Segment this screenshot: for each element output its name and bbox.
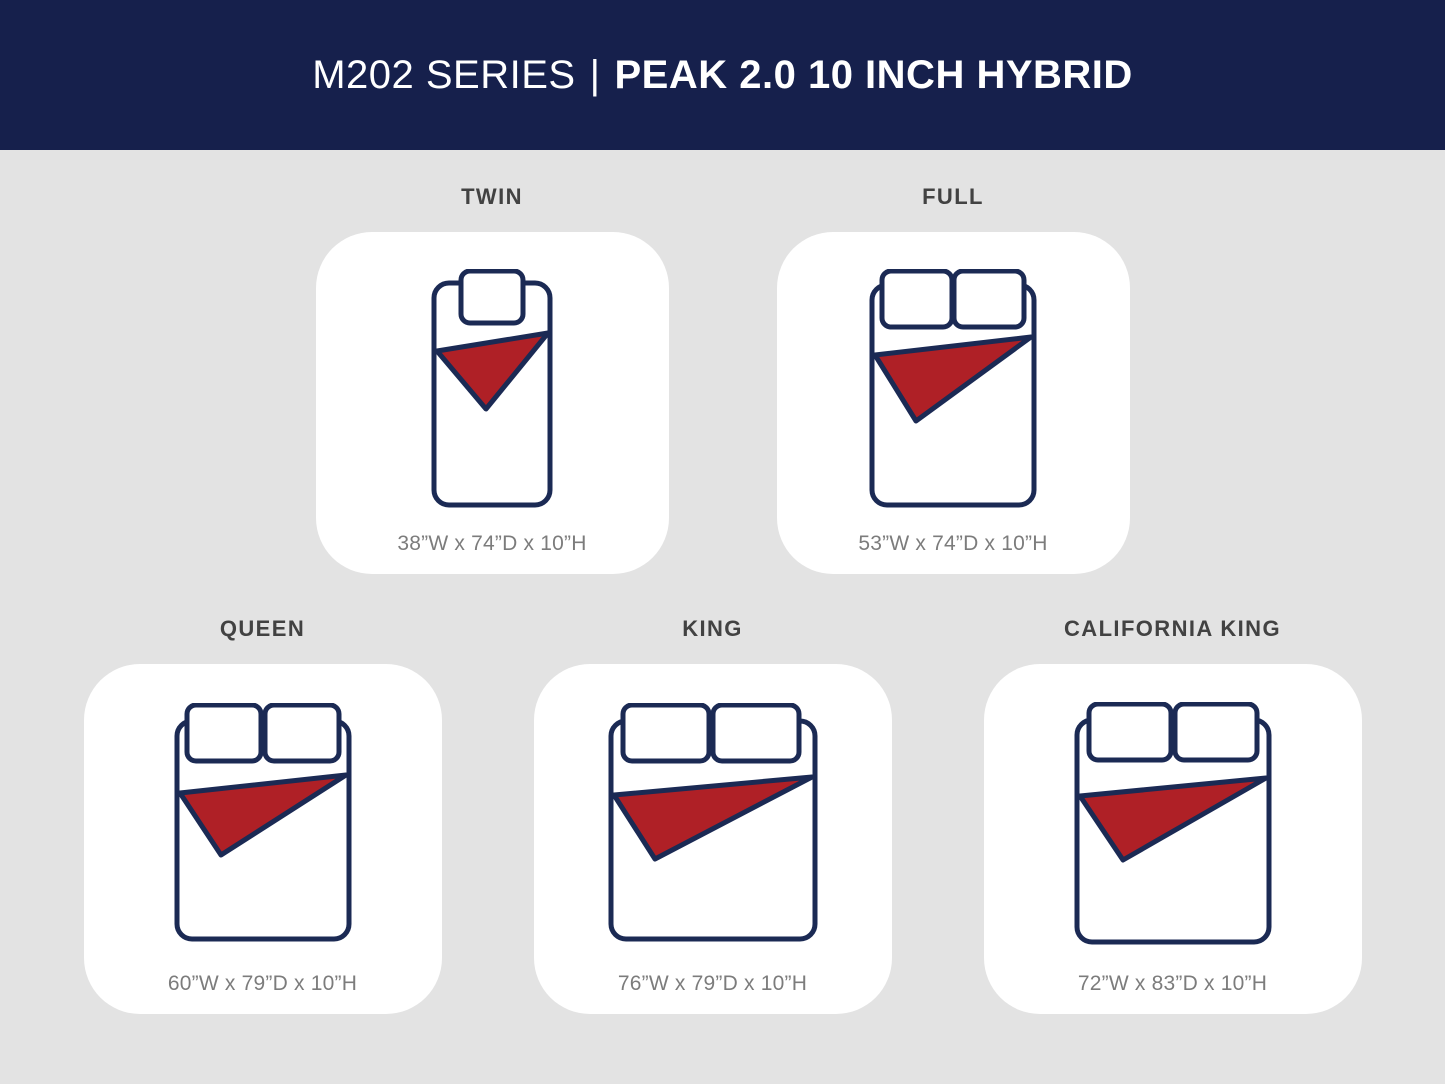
size-block-california-king: CALIFORNIA KING 72”W x 83”D x 10”H xyxy=(984,616,1362,1014)
bed-twin-icon xyxy=(417,269,567,517)
size-dimensions-california-king: 72”W x 83”D x 10”H xyxy=(1078,972,1267,1014)
size-dimensions-full: 53”W x 74”D x 10”H xyxy=(858,532,1047,574)
size-label-queen: QUEEN xyxy=(220,616,305,642)
size-label-king: KING xyxy=(682,616,743,642)
size-card-king[interactable]: 76”W x 79”D x 10”H xyxy=(534,664,892,1014)
size-label-full: FULL xyxy=(922,184,984,210)
bed-california-king-icon xyxy=(1063,702,1283,954)
size-dimensions-king: 76”W x 79”D x 10”H xyxy=(618,972,807,1014)
size-dimensions-twin: 38”W x 74”D x 10”H xyxy=(397,532,586,574)
size-card-queen[interactable]: 60”W x 79”D x 10”H xyxy=(84,664,442,1014)
title-separator: | xyxy=(590,53,601,98)
bed-queen-icon xyxy=(163,703,363,953)
series-label: M202 SERIES xyxy=(312,53,575,98)
mattress-size-chart: TWIN 38”W x 74”D x 10”H FULL xyxy=(0,150,1445,1084)
size-dimensions-queen: 60”W x 79”D x 10”H xyxy=(168,972,357,1014)
bed-icon-holder xyxy=(984,684,1362,972)
model-label: PEAK 2.0 10 INCH HYBRID xyxy=(614,53,1132,98)
size-card-twin[interactable]: 38”W x 74”D x 10”H xyxy=(316,232,669,574)
size-card-full[interactable]: 53”W x 74”D x 10”H xyxy=(777,232,1130,574)
page-title: M202 SERIES | PEAK 2.0 10 INCH HYBRID xyxy=(312,53,1133,98)
size-label-twin: TWIN xyxy=(461,184,523,210)
bed-icon-holder xyxy=(534,684,892,972)
size-row-top: TWIN 38”W x 74”D x 10”H FULL xyxy=(0,150,1445,574)
size-row-bottom: QUEEN 60”W x 79”D x 10”H KING xyxy=(0,574,1445,1014)
bed-king-icon xyxy=(597,703,829,953)
bed-full-icon xyxy=(858,269,1048,517)
size-block-queen: QUEEN 60”W x 79”D x 10”H xyxy=(84,616,442,1014)
bed-icon-holder xyxy=(777,254,1130,532)
size-card-california-king[interactable]: 72”W x 83”D x 10”H xyxy=(984,664,1362,1014)
size-block-full: FULL 53”W x 74”D x 10”H xyxy=(777,184,1130,574)
bed-icon-holder xyxy=(316,254,669,532)
bed-icon-holder xyxy=(84,684,442,972)
header-banner: M202 SERIES | PEAK 2.0 10 INCH HYBRID xyxy=(0,0,1445,150)
size-block-king: KING 76”W x 79”D x 10”H xyxy=(534,616,892,1014)
size-label-california-king: CALIFORNIA KING xyxy=(1064,616,1281,642)
size-block-twin: TWIN 38”W x 74”D x 10”H xyxy=(316,184,669,574)
